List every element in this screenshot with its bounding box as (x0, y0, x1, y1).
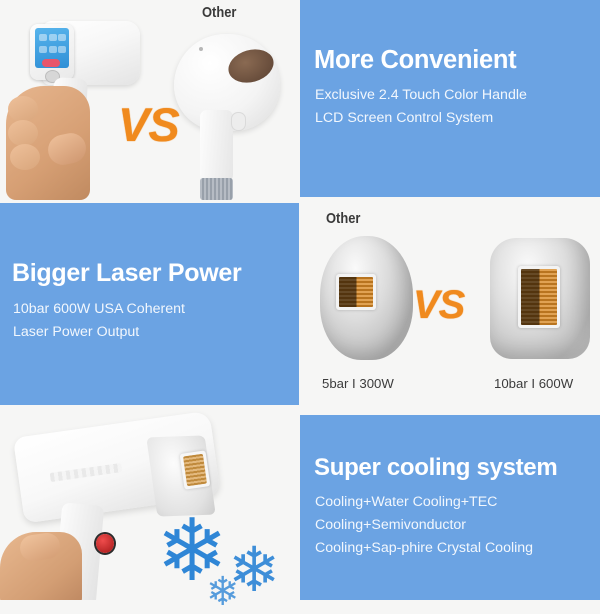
subline: Cooling+Water Cooling+TEC (315, 491, 533, 514)
subline: Cooling+Sap-phire Crystal Cooling (315, 537, 533, 560)
hand-holding-cooling-handpiece (0, 532, 82, 600)
caption-other-power: 5bar I 300W (322, 376, 394, 391)
more-convenient-sublines: Exclusive 2.4 Touch Color Handle LCD Scr… (315, 84, 527, 130)
other-label-top: Other (202, 4, 236, 21)
headline-bigger-laser-power: Bigger Laser Power (12, 260, 241, 286)
snowflake-icon: ❄ (206, 572, 240, 612)
headline-super-cooling-system: Super cooling system (314, 455, 557, 480)
subline: Laser Power Output (13, 321, 185, 344)
vs-badge-top: VS (118, 97, 179, 152)
hand-holding-handpiece (6, 86, 90, 200)
handpiece-emitter-window (180, 450, 211, 489)
headline-more-convenient: More Convenient (314, 47, 516, 74)
vs-badge-mid: VS (413, 283, 464, 328)
cooling-sublines: Cooling+Water Cooling+TEC Cooling+Semivo… (315, 491, 533, 560)
panel-handpiece-comparison: Other VS (0, 0, 299, 202)
laser-power-sublines: 10bar 600W USA Coherent Laser Power Outp… (13, 298, 185, 344)
subline: LCD Screen Control System (315, 107, 527, 130)
infographic-board: Other VS More Convenient Exclusive 2.4 T… (0, 0, 600, 600)
panel-bigger-laser-power: Bigger Laser Power 10bar 600W USA Cohere… (0, 203, 299, 405)
other-label-mid: Other (326, 210, 360, 227)
other-laser-bar (336, 274, 376, 310)
handpiece-trigger-button (96, 534, 114, 553)
panel-super-cooling-system: Super cooling system Cooling+Water Cooli… (300, 415, 600, 600)
other-handpiece-cable-cuff (200, 178, 233, 200)
subline: Cooling+Semivonductor (315, 514, 533, 537)
our-laser-bar (518, 266, 560, 328)
lcd-stop-button (42, 59, 60, 67)
panel-more-convenient: More Convenient Exclusive 2.4 Touch Colo… (300, 0, 600, 197)
subline: 10bar 600W USA Coherent (13, 298, 185, 321)
other-handpiece-neck (200, 110, 233, 182)
other-handpiece-indicator (199, 47, 203, 51)
other-handpiece-button (231, 112, 246, 131)
subline: Exclusive 2.4 Touch Color Handle (315, 84, 527, 107)
caption-our-power: 10bar I 600W (494, 376, 573, 391)
